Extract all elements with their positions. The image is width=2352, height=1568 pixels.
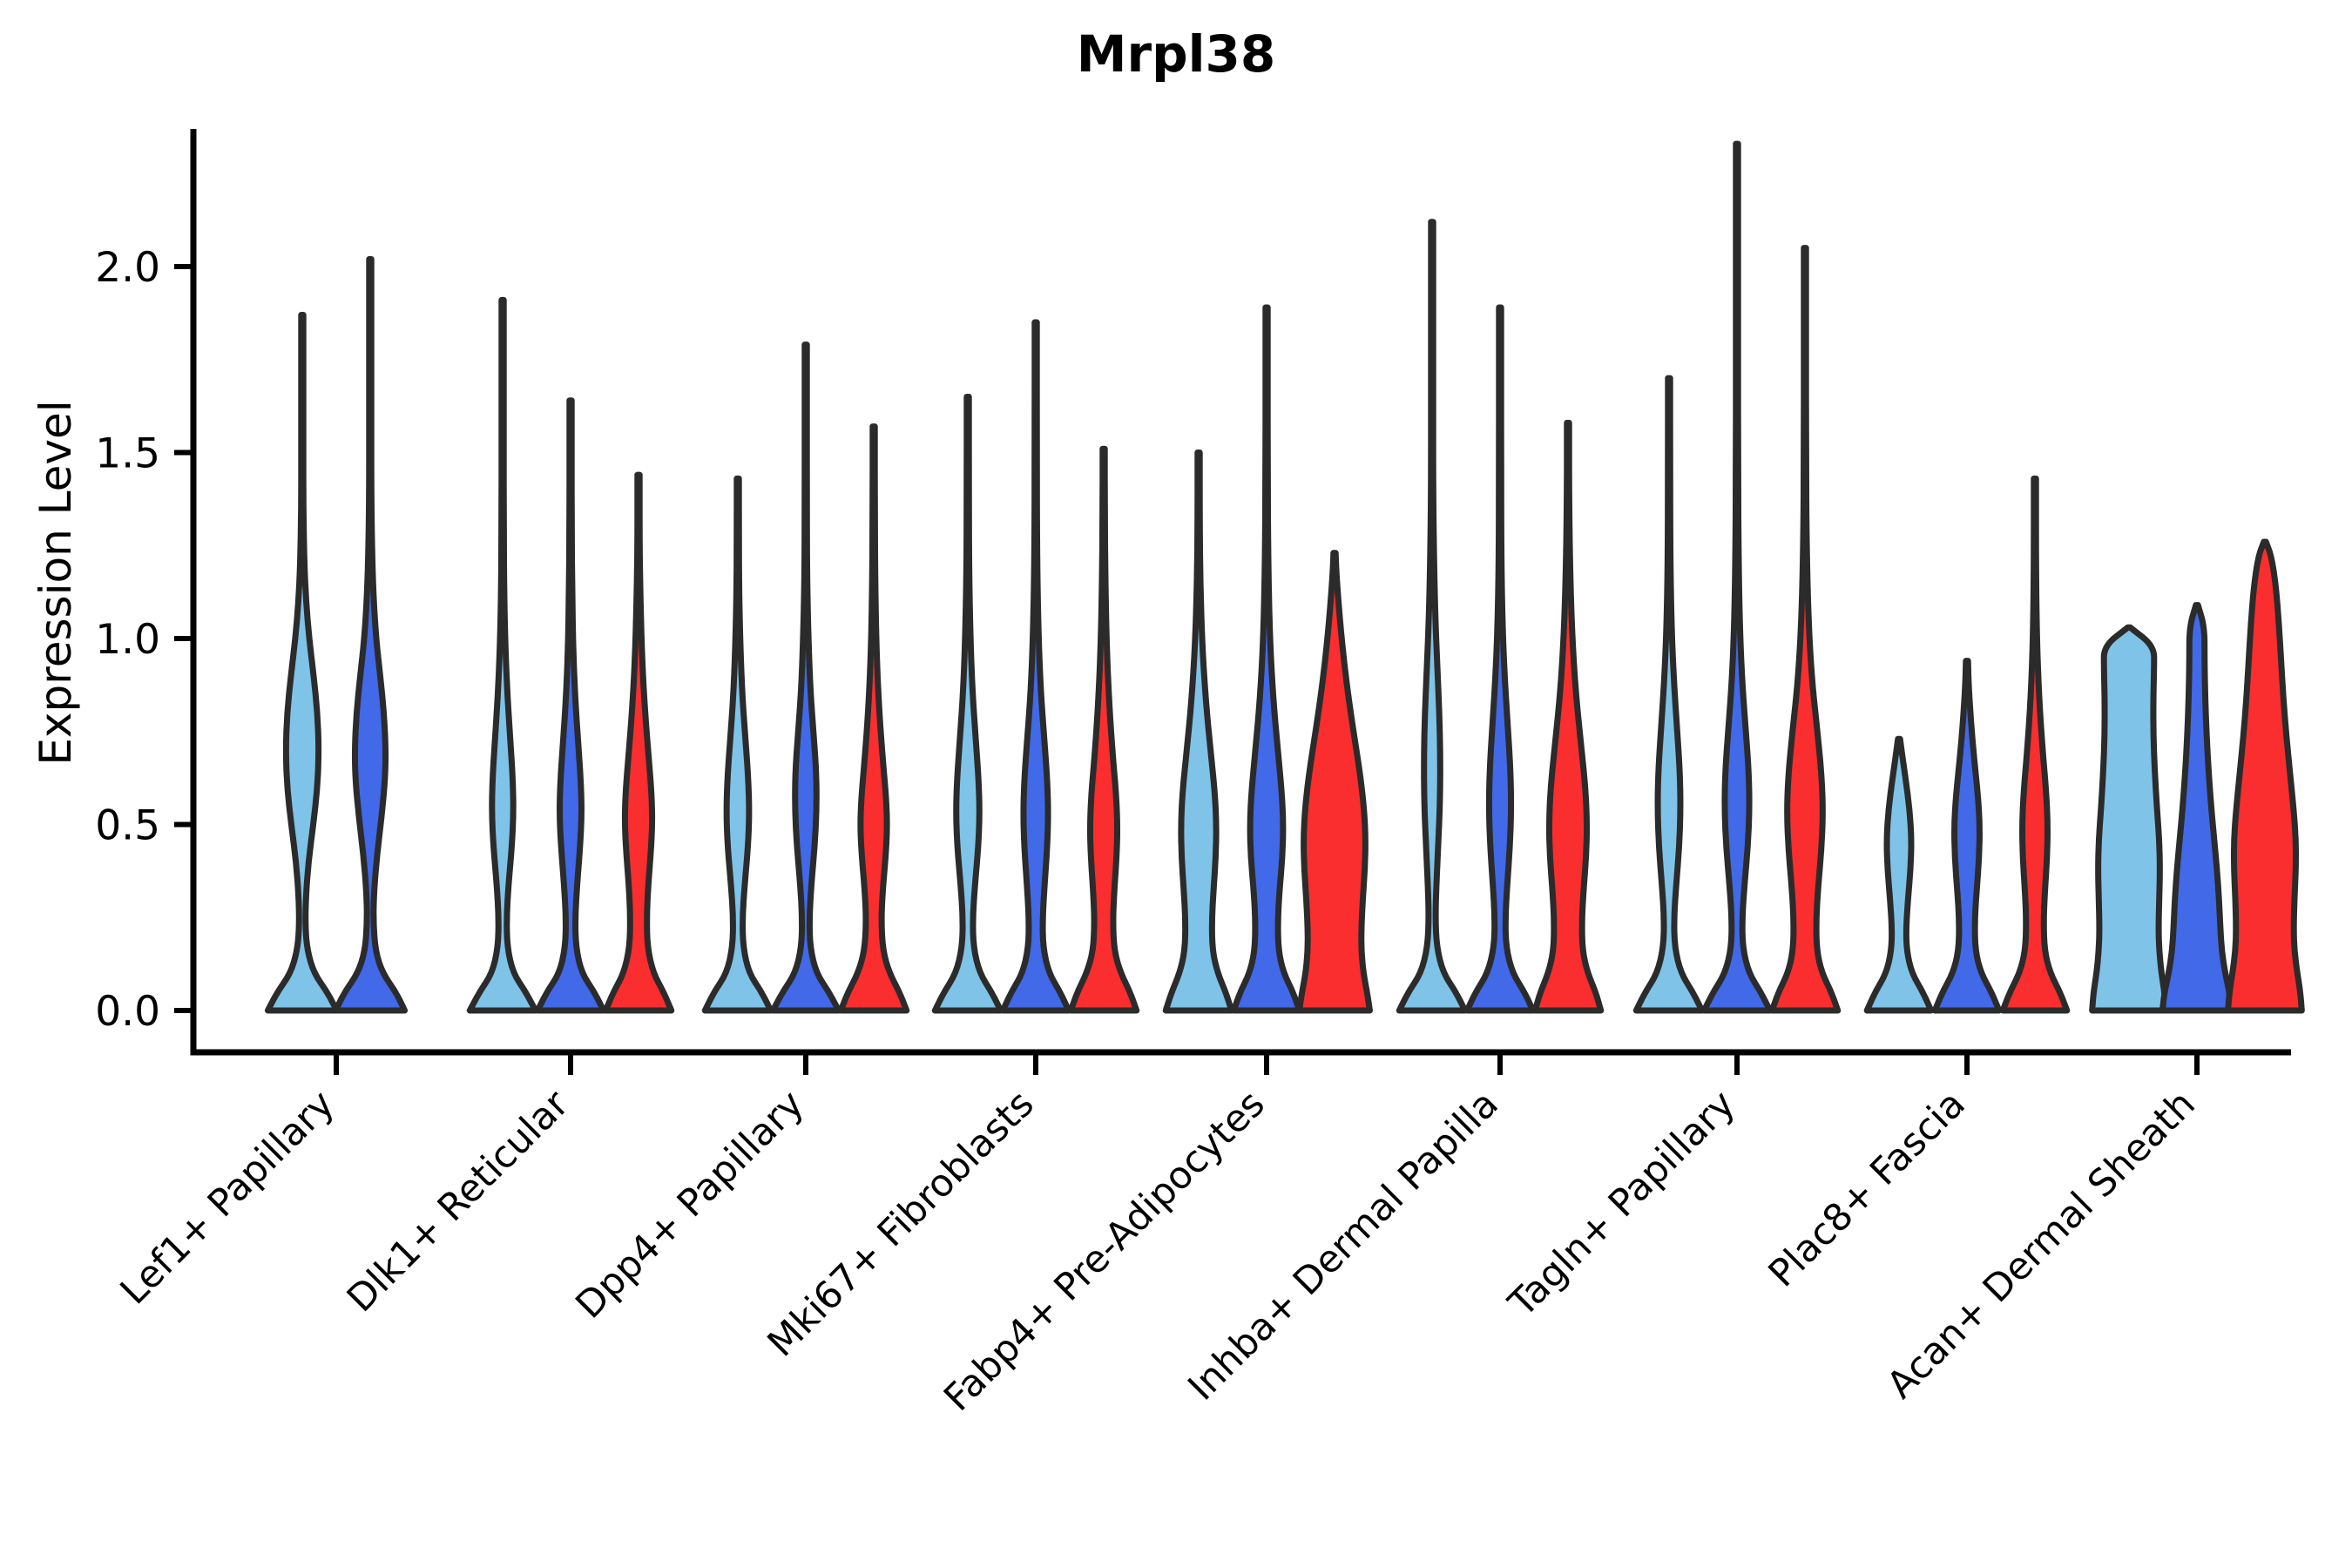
violin-1-1 (537, 401, 603, 1010)
x-tick-label-0: Lef1+ Papillary (112, 1082, 343, 1313)
y-tick-label: 0.0 (95, 988, 160, 1036)
plot-canvas: 0.00.51.01.52.0 Lef1+ PapillaryDlk1+ Ret… (0, 0, 2352, 1568)
x-tick-labels: Lef1+ PapillaryDlk1+ ReticularDpp4+ Papi… (112, 1082, 2204, 1420)
violin-8-0 (2092, 627, 2166, 1010)
violin-5-1 (1467, 308, 1532, 1010)
violin-3-2 (1071, 449, 1136, 1010)
y-tick-labels: 0.00.51.01.52.0 (95, 244, 160, 1036)
violin-2-2 (841, 427, 906, 1010)
x-tick-label-3: Mki67+ Fibroblasts (760, 1082, 1043, 1365)
violin-6-2 (1772, 248, 1837, 1010)
violin-0-1 (335, 259, 404, 1010)
violin-4-1 (1233, 308, 1299, 1010)
x-tick-label-6: Tagln+ Papillary (1500, 1082, 1744, 1326)
violin-1-2 (605, 475, 671, 1010)
violin-7-0 (1867, 739, 1931, 1010)
violin-6-0 (1636, 378, 1701, 1010)
violin-5-0 (1399, 222, 1464, 1010)
violin-4-0 (1166, 453, 1231, 1011)
y-tick-label: 1.0 (95, 616, 160, 664)
y-tick-label: 0.5 (95, 802, 160, 850)
violin-plot-figure: Mrpl38 Expression Level 0.00.51.01.52.0 … (0, 0, 2352, 1568)
violin-8-2 (2228, 542, 2302, 1010)
violin-4-2 (1300, 553, 1370, 1010)
violin-3-1 (1003, 322, 1068, 1010)
violin-5-2 (1535, 422, 1600, 1010)
violin-0-0 (267, 315, 336, 1010)
violin-3-0 (935, 396, 1000, 1010)
violins-layer (267, 144, 2301, 1010)
violin-2-0 (705, 478, 770, 1010)
violin-7-2 (2003, 478, 2067, 1010)
violin-7-1 (1935, 661, 1999, 1010)
violin-1-0 (470, 300, 535, 1010)
x-tick-label-7: Plac8+ Fascia (1761, 1082, 1974, 1295)
y-tick-label: 2.0 (95, 244, 160, 292)
x-tick-label-2: Dpp4+ Papillary (568, 1082, 813, 1327)
violin-6-1 (1704, 144, 1769, 1010)
violin-8-1 (2162, 605, 2231, 1010)
x-tick-label-1: Dlk1+ Reticular (339, 1082, 578, 1321)
violin-2-1 (773, 345, 838, 1010)
y-tick-label: 1.5 (95, 430, 160, 478)
